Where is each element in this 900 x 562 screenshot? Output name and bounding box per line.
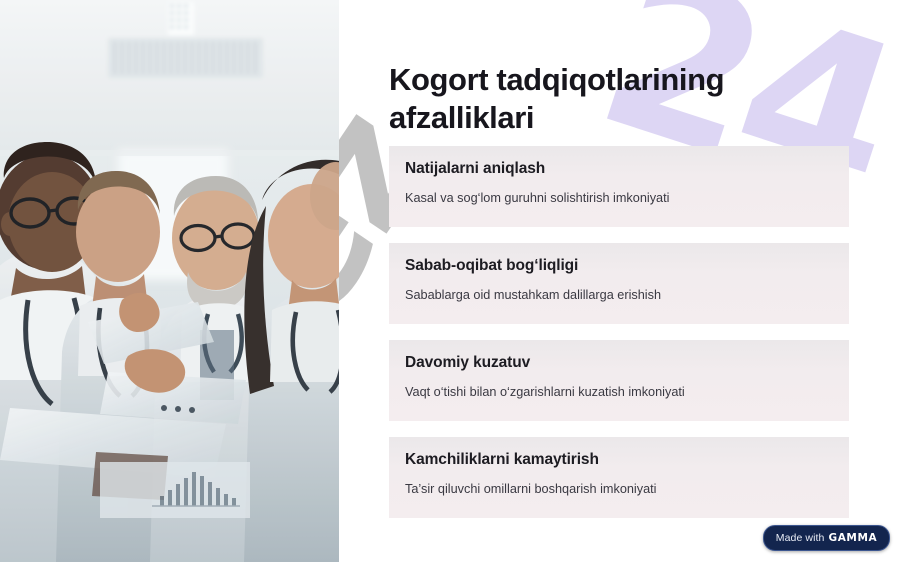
- gamma-brand-label: GAMMA: [828, 532, 877, 544]
- made-with-gamma-badge[interactable]: Made with GAMMA: [763, 525, 890, 551]
- benefit-card-title: Davomiy kuzatuv: [405, 354, 833, 373]
- benefit-card-description: Sabablarga oid mustahkam dalillarga eris…: [405, 287, 833, 304]
- slide-root: 24 sez Kogort tadqiqotlarining afzallikl…: [0, 0, 900, 562]
- medical-team-photo-icon: [0, 0, 339, 562]
- benefit-card-title: Natijalarni aniqlash: [405, 160, 833, 179]
- benefit-card-title: Kamchiliklarni kamaytirish: [405, 451, 833, 470]
- benefit-card[interactable]: Davomiy kuzatuv Vaqt o‘tishi bilan o‘zga…: [389, 340, 849, 421]
- content-panel: 24 sez Kogort tadqiqotlarining afzallikl…: [339, 0, 900, 562]
- hero-photo: [0, 0, 339, 562]
- page-title: Kogort tadqiqotlarining afzalliklari: [389, 61, 859, 137]
- benefit-card-description: Ta’sir qiluvchi omillarni boshqarish imk…: [405, 481, 833, 498]
- benefit-card[interactable]: Kamchiliklarni kamaytirish Ta’sir qiluvc…: [389, 437, 849, 518]
- benefit-card-description: Vaqt o‘tishi bilan o‘zgarishlarni kuzati…: [405, 384, 833, 401]
- benefit-card[interactable]: Natijalarni aniqlash Kasal va sog‘lom gu…: [389, 146, 849, 227]
- benefits-card-list: Natijalarni aniqlash Kasal va sog‘lom gu…: [389, 146, 849, 518]
- benefit-card[interactable]: Sabab-oqibat bog‘liqligi Sabablarga oid …: [389, 243, 849, 324]
- benefit-card-title: Sabab-oqibat bog‘liqligi: [405, 257, 833, 276]
- benefit-card-description: Kasal va sog‘lom guruhni solishtirish im…: [405, 190, 833, 207]
- made-with-label: Made with: [776, 532, 825, 544]
